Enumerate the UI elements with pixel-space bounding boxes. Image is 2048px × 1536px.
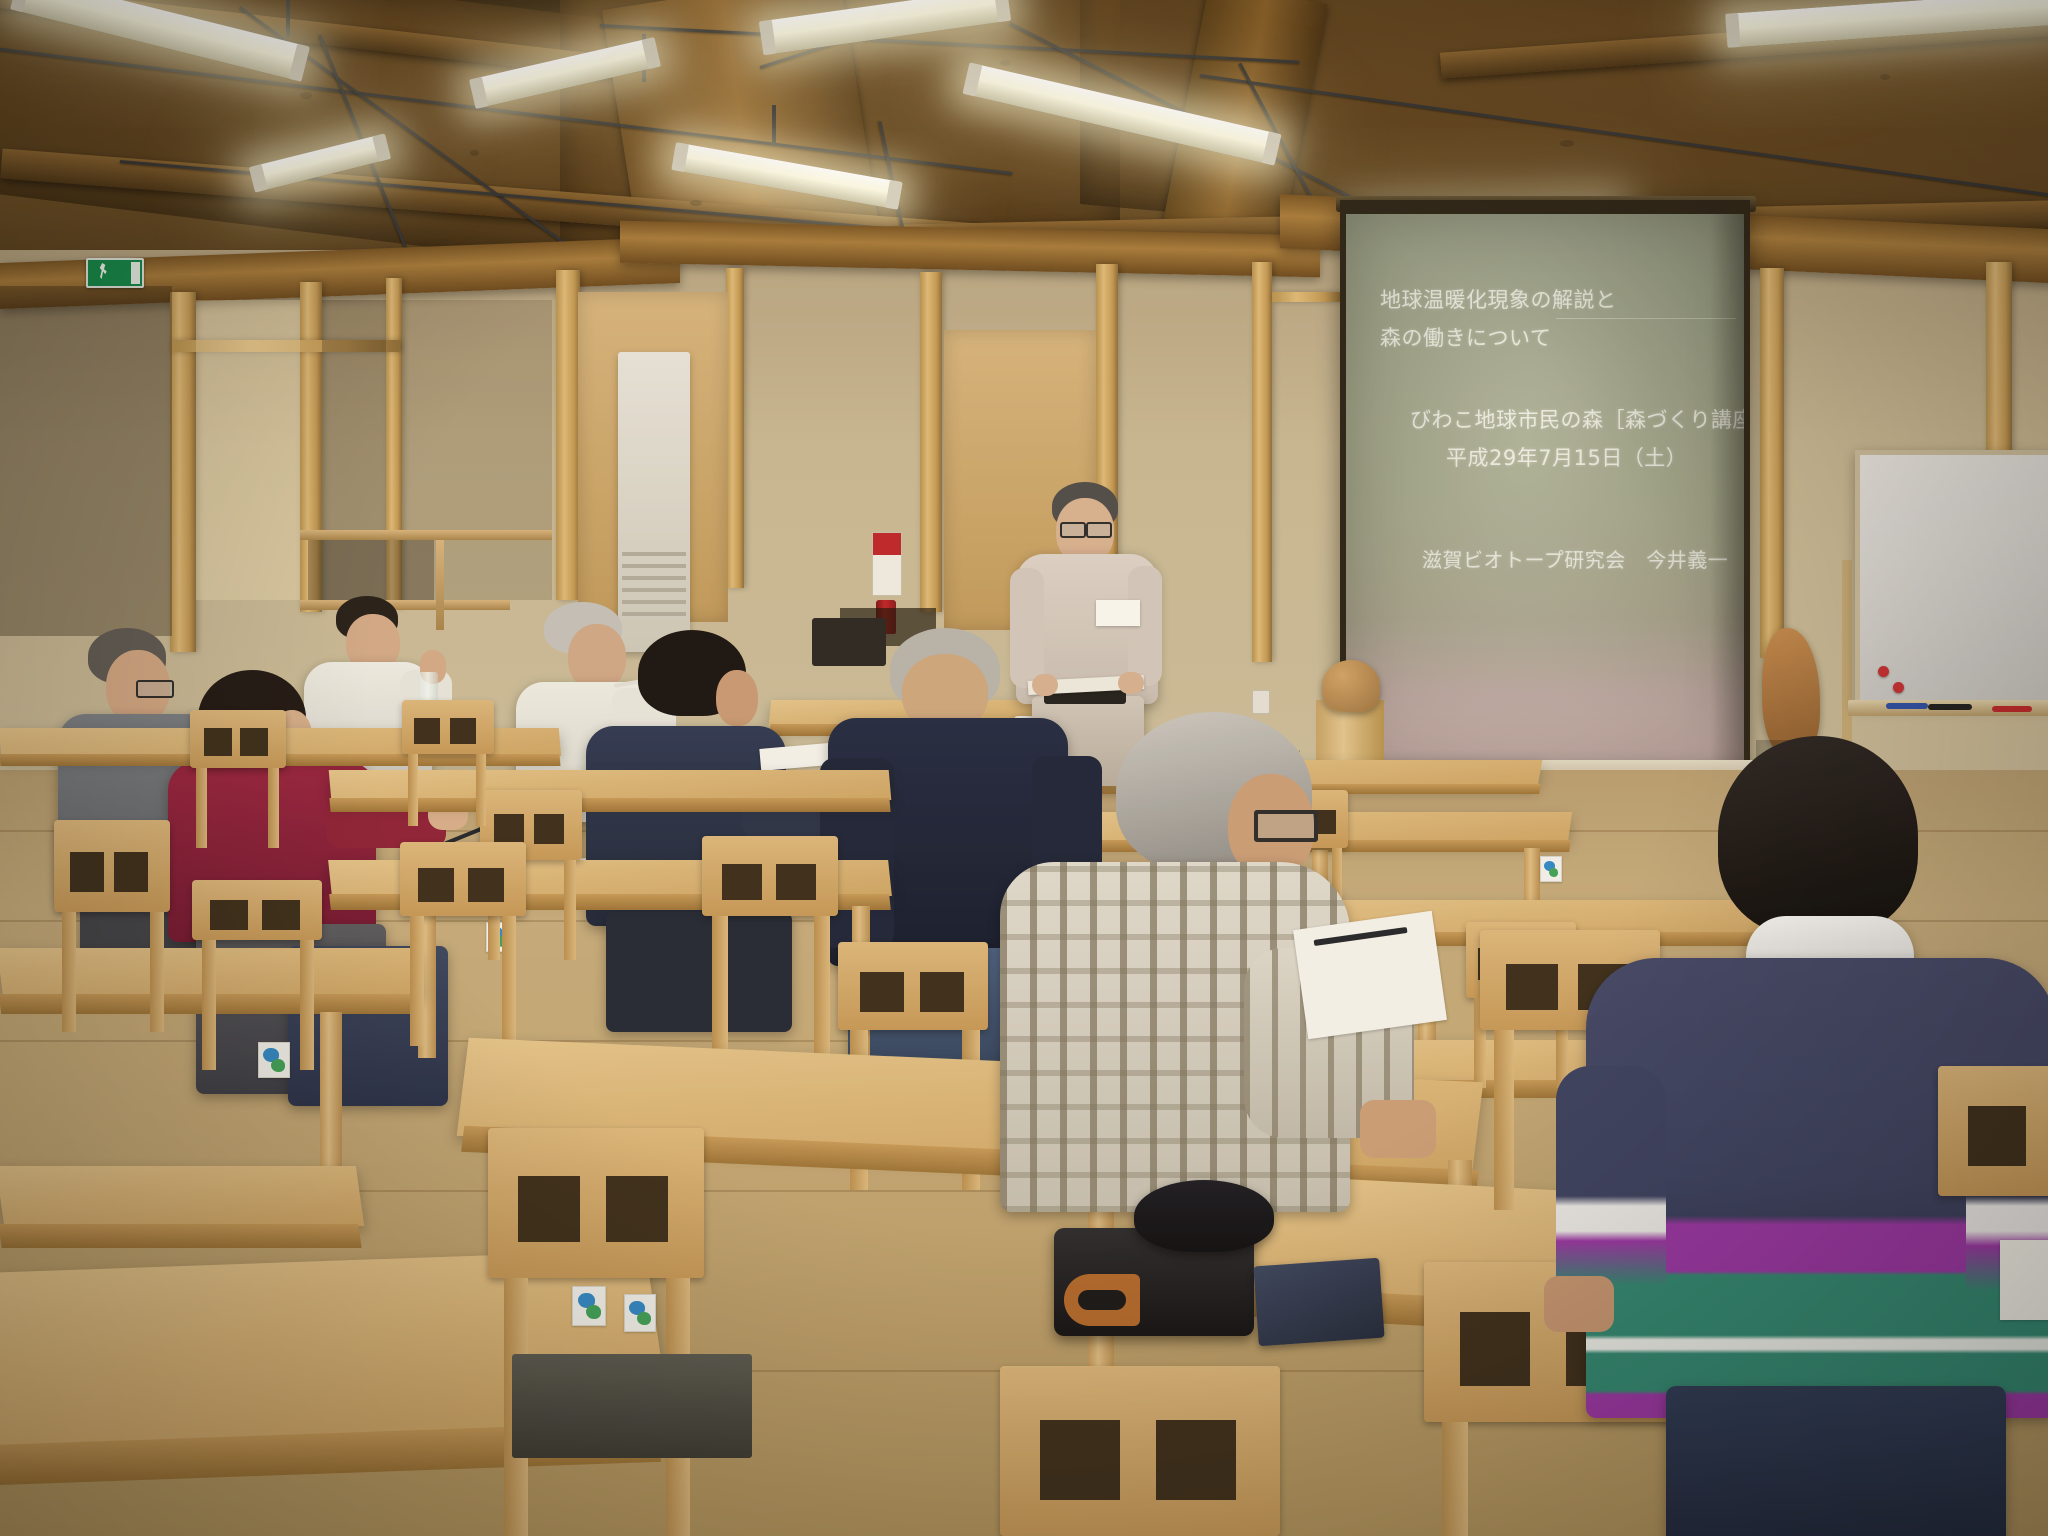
- hair: [1718, 736, 1918, 936]
- handout-papers: [2000, 1240, 2048, 1320]
- wall-outlet: [1252, 690, 1270, 714]
- trousers: [606, 912, 792, 1032]
- glasses-icon: [1086, 522, 1112, 538]
- navy-wallet[interactable]: [1253, 1258, 1384, 1347]
- presenter-arm-left: [1010, 568, 1044, 688]
- wooden-squirrel-carving: [1322, 660, 1380, 712]
- light-stem: [772, 105, 776, 145]
- presenter-name-badge: [1096, 600, 1140, 626]
- head: [568, 624, 626, 690]
- shelf-board: [300, 600, 510, 610]
- magnet-icon[interactable]: [1878, 666, 1889, 677]
- wall-post: [920, 272, 942, 612]
- shelf-shadow: [308, 540, 434, 600]
- slide-title-line2: 森の働きについて: [1380, 322, 1551, 352]
- marker-red[interactable]: [1992, 706, 2032, 712]
- projection-screen: 地球温暖化現象の解説と 森の働きについて びわこ地球市民の森［森づくり講座］ 平…: [1346, 214, 1744, 774]
- wall-post: [1252, 262, 1272, 662]
- marker-black[interactable]: [1928, 704, 1972, 710]
- hand: [1360, 1100, 1436, 1158]
- emergency-exit-icon: [86, 258, 144, 288]
- wall-post: [1760, 268, 1784, 658]
- table-edge: [0, 1224, 362, 1248]
- fire-extinguisher-sign: [872, 532, 902, 596]
- slide-title-line1: 地球温暖化現象の解説と: [1380, 284, 1617, 314]
- shelf-board: [436, 540, 444, 630]
- wall-rail: [1272, 292, 1342, 302]
- lecture-room-photo: 地球温暖化現象の解説と 森の働きについて びわこ地球市民の森［森づくり講座］ 平…: [0, 0, 2048, 1536]
- slide-presenter-line: 滋賀ビオトープ研究会 今井義一: [1422, 544, 1728, 573]
- slide-underline: [1556, 318, 1736, 319]
- hand: [1544, 1276, 1614, 1332]
- trousers: [1666, 1386, 2006, 1536]
- table-decal: [572, 1286, 606, 1326]
- head: [716, 670, 758, 726]
- glasses-icon: [1254, 810, 1318, 842]
- light-stem: [286, 0, 290, 38]
- equipment-box: [812, 618, 886, 666]
- table-decal: [258, 1042, 290, 1078]
- marker-blue[interactable]: [1886, 703, 1928, 709]
- presenter-hand-right: [1118, 672, 1144, 694]
- slide-date-line: 平成29年7月15日（土）: [1446, 442, 1687, 472]
- wall-recess: [0, 286, 172, 636]
- table-decal: [1540, 856, 1562, 882]
- glasses-icon: [1060, 522, 1086, 538]
- table-row-left-5: [0, 1166, 364, 1226]
- magnet-icon[interactable]: [1893, 682, 1904, 693]
- shelf-board: [300, 530, 552, 540]
- wall-highlight: [196, 300, 300, 600]
- presenter-arm-right: [1128, 566, 1162, 686]
- wall-post: [726, 268, 744, 588]
- presenter-hand-left: [1032, 674, 1058, 696]
- slide-event-line: びわこ地球市民の森［森づくり講座］: [1410, 404, 1744, 434]
- air-conditioner: [618, 352, 690, 652]
- table-decal: [624, 1294, 656, 1332]
- wall-post: [556, 270, 580, 600]
- dark-cap[interactable]: [1134, 1180, 1274, 1252]
- running-person-glyph: [99, 263, 108, 279]
- glasses-icon: [136, 680, 174, 698]
- handout-papers: [1293, 911, 1447, 1039]
